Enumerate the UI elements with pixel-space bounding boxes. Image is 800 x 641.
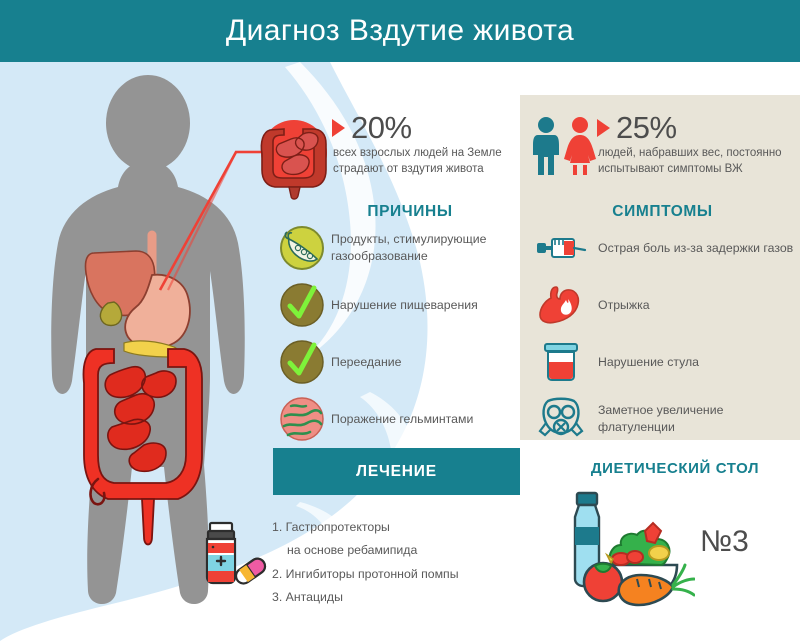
medicine-bottle-icon bbox=[196, 521, 268, 587]
page-title: Диагноз Вздутие живота bbox=[226, 14, 574, 48]
symptoms-list: Острая боль из-за задержки газов Отрыжка… bbox=[530, 222, 795, 450]
list-item: Отрыжка bbox=[530, 279, 795, 331]
stat-block-right: 25% людей, набравших вес, постоянно испы… bbox=[597, 112, 782, 178]
stat-right-header: 25% bbox=[597, 112, 782, 143]
list-item-label: Острая боль из-за задержки газов bbox=[592, 240, 793, 257]
causes-section-title: ПРИЧИНЫ bbox=[330, 203, 490, 221]
treatment-list: 1. Гастропротекторы на основе ребамипида… bbox=[272, 516, 522, 609]
list-item-label: Заметное увеличение флатуленции bbox=[592, 402, 795, 435]
specimen-container-icon bbox=[530, 338, 592, 386]
list-item-label: Нарушение стула bbox=[592, 354, 699, 371]
stat-left-description: всех взрослых людей на Земле страдают от… bbox=[332, 145, 502, 178]
list-item-label: Поражение гельминтами bbox=[331, 411, 473, 428]
gas-mask-icon bbox=[530, 395, 592, 443]
healthy-food-icon bbox=[555, 487, 695, 612]
stat-left-header: 20% bbox=[332, 112, 502, 143]
treatment-section-bar: ЛЕЧЕНИЕ bbox=[273, 448, 520, 495]
syringe-icon bbox=[530, 224, 592, 272]
list-item: Поражение гельминтами bbox=[273, 393, 521, 445]
list-item-label: Отрыжка bbox=[592, 297, 650, 314]
stat-block-left: 20% всех взрослых людей на Земле страдаю… bbox=[332, 112, 502, 178]
peas-pod-icon bbox=[273, 223, 331, 273]
list-item: 2. Ингибиторы протонной помпы bbox=[272, 563, 522, 586]
list-item: Продукты, стимулирующие газообразование bbox=[273, 222, 521, 274]
triangle-marker-icon bbox=[332, 119, 345, 137]
diet-number: №3 bbox=[700, 525, 749, 559]
checkmark-circle-icon bbox=[273, 280, 331, 330]
colon-icon bbox=[253, 108, 335, 200]
checkmark-circle-icon bbox=[273, 337, 331, 387]
list-item-label: Нарушение пищеварения bbox=[331, 297, 478, 314]
stat-left-value: 20% bbox=[351, 112, 412, 143]
list-item-label: Продукты, стимулирующие газообразование bbox=[331, 231, 521, 264]
list-item: Нарушение стула bbox=[530, 336, 795, 388]
stomach-flame-icon bbox=[530, 281, 592, 329]
list-item: Заметное увеличение флатуленции bbox=[530, 393, 795, 445]
list-item: 1. Гастропротекторы bbox=[272, 516, 522, 539]
stat-right-description: людей, набравших вес, постоянно испытыва… bbox=[597, 145, 782, 178]
causes-list: Продукты, стимулирующие газообразование … bbox=[273, 222, 521, 450]
diet-section-title: ДИЕТИЧЕСКИЙ СТОЛ bbox=[560, 460, 790, 477]
infographic-canvas: Диагноз Вздутие живота bbox=[0, 0, 800, 641]
header-bar: Диагноз Вздутие живота bbox=[0, 0, 800, 62]
treatment-section-title: ЛЕЧЕНИЕ bbox=[356, 463, 437, 481]
list-item: Нарушение пищеварения bbox=[273, 279, 521, 331]
symptoms-section-title: СИМПТОМЫ bbox=[575, 203, 750, 221]
stat-right-value: 25% bbox=[616, 112, 677, 143]
list-item-label: Переедание bbox=[331, 354, 401, 371]
helminths-icon bbox=[273, 394, 331, 444]
list-item: на основе ребамипида bbox=[272, 539, 522, 562]
list-item: Острая боль из-за задержки газов bbox=[530, 222, 795, 274]
triangle-marker-icon bbox=[597, 119, 610, 137]
male-female-icons bbox=[530, 115, 598, 177]
list-item: 3. Антациды bbox=[272, 586, 522, 609]
list-item: Переедание bbox=[273, 336, 521, 388]
